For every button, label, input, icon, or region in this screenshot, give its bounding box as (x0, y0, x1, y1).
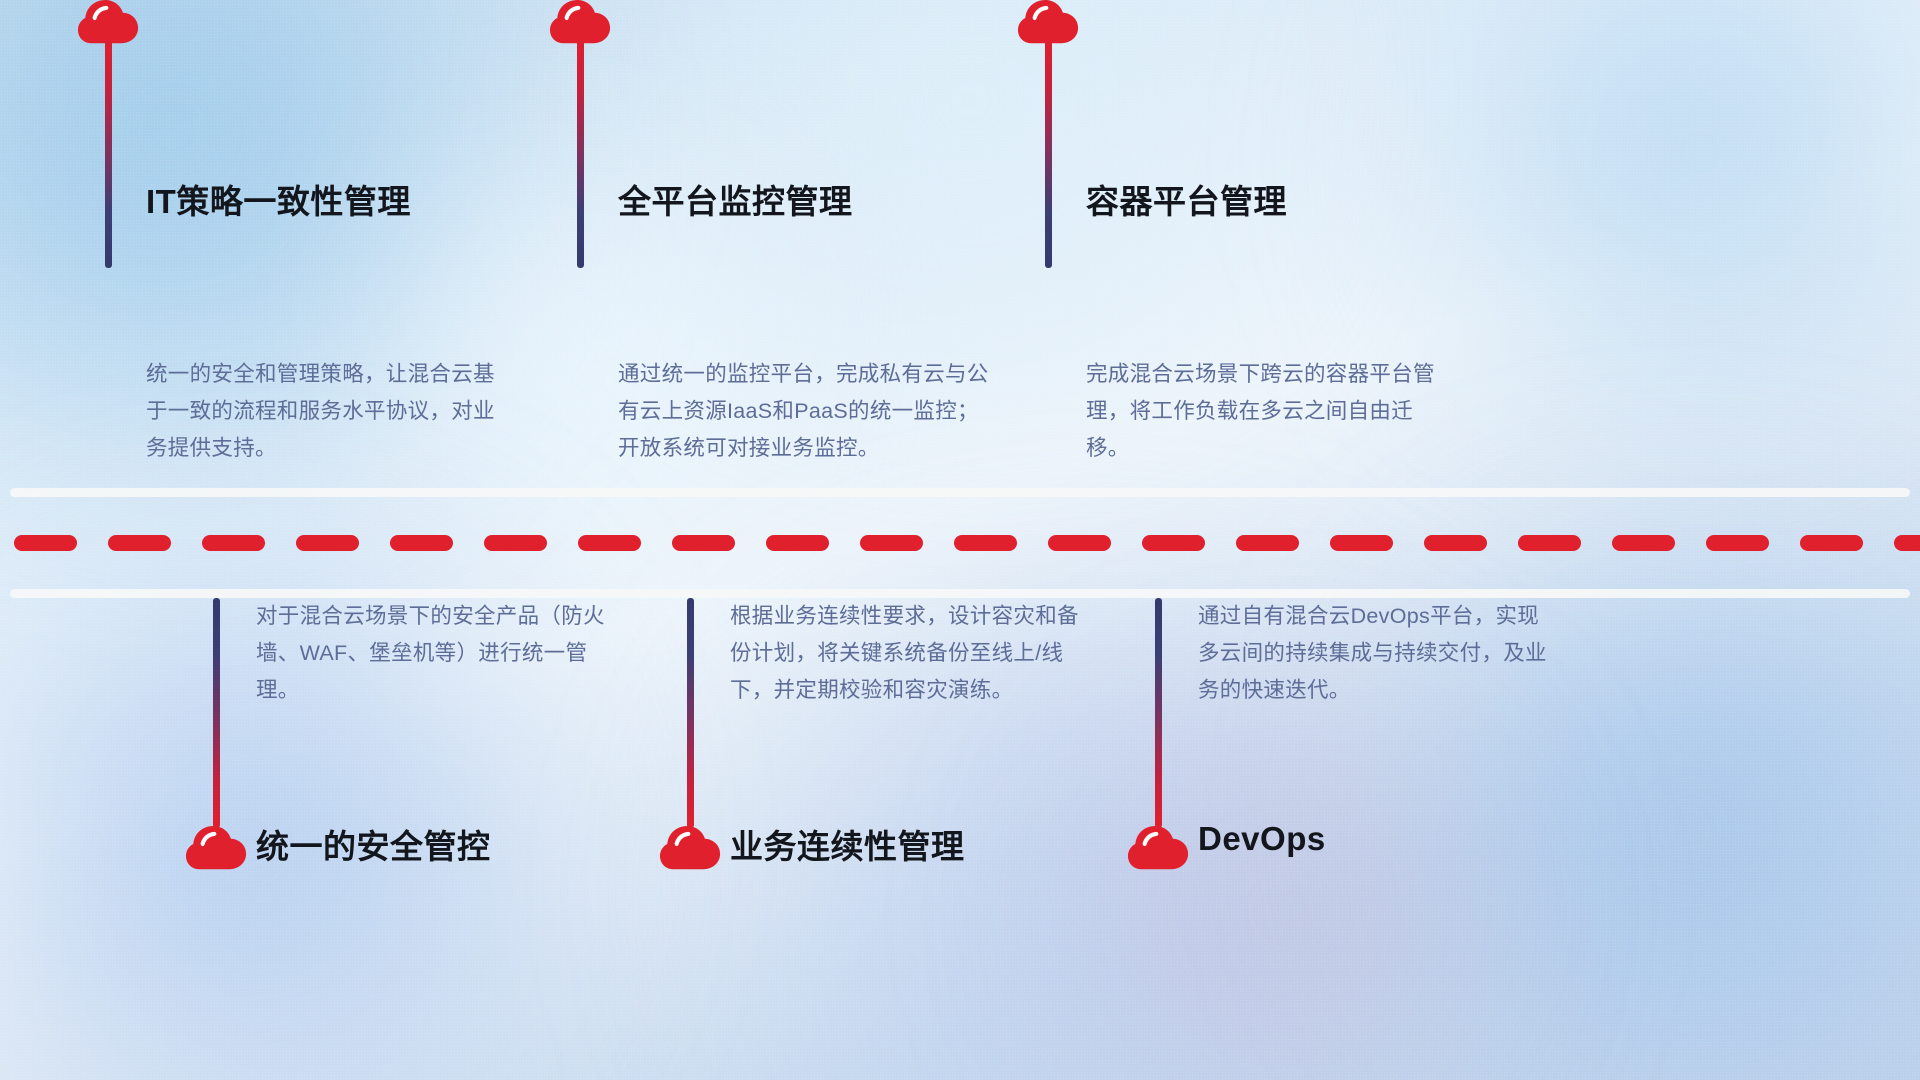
milestone-description: 通过自有混合云DevOps平台，实现多云间的持续集成与持续交付，及业务的快速迭代… (1198, 598, 1553, 709)
road-dash (296, 535, 359, 551)
milestone-title: 容器平台管理 (1086, 175, 1287, 223)
road-dash-line (0, 535, 1920, 551)
milestone-card-container-platform-management[interactable]: 容器平台管理完成混合云场景下跨云的容器平台管理，将工作负载在多云之间自由迁移。 (0, 0, 1920, 488)
road-dash (14, 535, 77, 551)
road-rail-bottom (10, 589, 1910, 598)
milestone-marker (1128, 598, 1190, 1080)
milestone-title: DevOps (1198, 820, 1326, 858)
road-dash (484, 535, 547, 551)
bottom-milestone-row: 统一的安全管控对于混合云场景下的安全产品（防火墙、WAF、堡垒机等）进行统一管理… (0, 598, 1920, 1080)
road-dash (1236, 535, 1299, 551)
road-dash (1706, 535, 1769, 551)
top-milestone-row: IT策略一致性管理统一的安全和管理策略，让混合云基于一致的流程和服务水平协议，对… (0, 0, 1920, 488)
road-dash (1048, 535, 1111, 551)
road-dash (1424, 535, 1487, 551)
road-dash (1330, 535, 1393, 551)
road-dash (108, 535, 171, 551)
milestone-stem (1045, 38, 1052, 268)
road-dash (578, 535, 641, 551)
cloud-icon (1128, 826, 1190, 870)
milestone-description: 完成混合云场景下跨云的容器平台管理，将工作负载在多云之间自由迁移。 (1086, 356, 1446, 467)
road-dash (202, 535, 265, 551)
road-dash (1894, 535, 1920, 551)
road-rail-top (10, 488, 1910, 497)
road-dash (860, 535, 923, 551)
road-dash (1612, 535, 1675, 551)
milestone-card-devops[interactable]: DevOps通过自有混合云DevOps平台，实现多云间的持续集成与持续交付，及业… (0, 598, 1920, 1080)
road-divider (0, 488, 1920, 598)
milestone-marker (1018, 0, 1080, 488)
road-dash (766, 535, 829, 551)
road-dash (672, 535, 735, 551)
road-dash (390, 535, 453, 551)
milestone-stem (1155, 598, 1162, 828)
road-dash (1800, 535, 1863, 551)
road-dash (1142, 535, 1205, 551)
road-dash (954, 535, 1017, 551)
road-dash (1518, 535, 1581, 551)
